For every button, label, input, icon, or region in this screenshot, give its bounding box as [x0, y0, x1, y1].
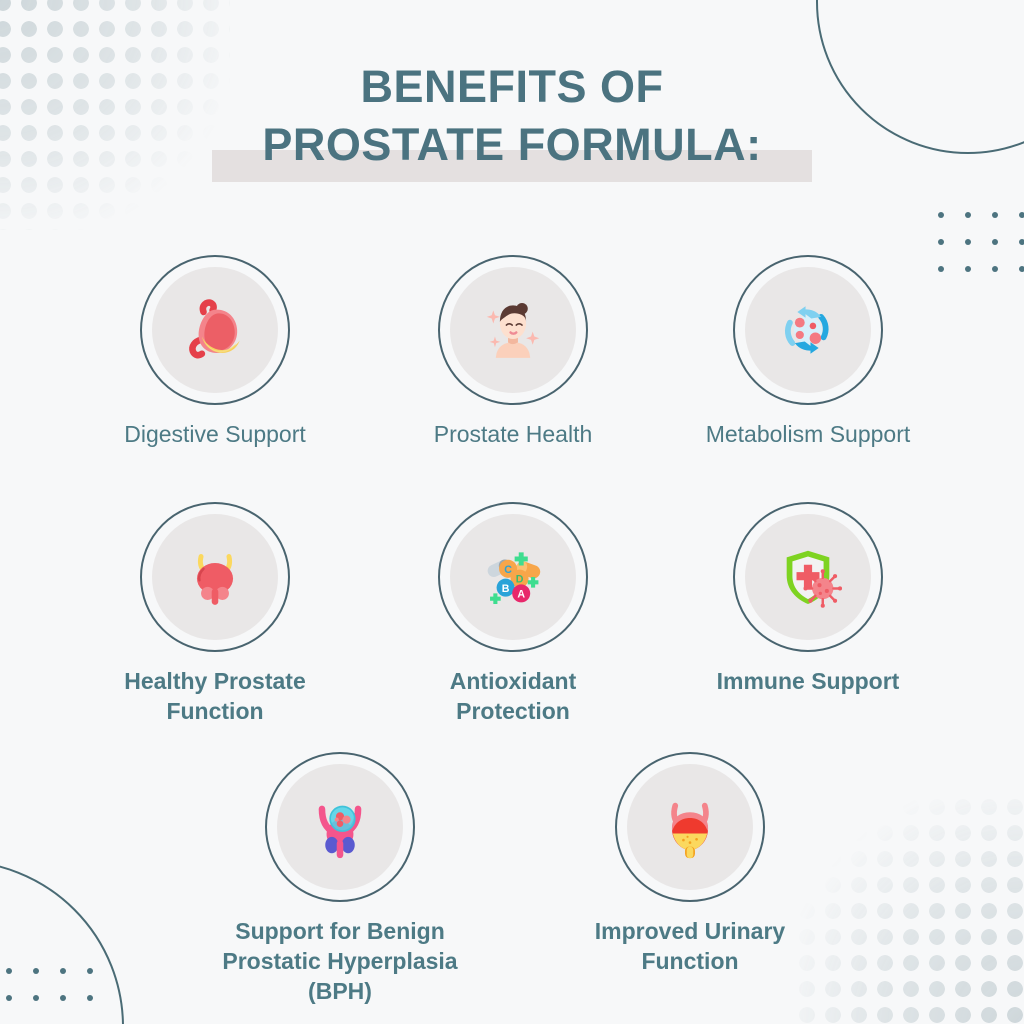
benefit-item-antioxidant-protection: C D B A Antioxidant Protection — [393, 502, 633, 726]
pill-letter-a: A — [517, 589, 525, 601]
pill-letter-d: D — [516, 574, 524, 586]
benefit-item-immune-support: Immune Support — [688, 502, 928, 696]
title-line-1: BENEFITS OF — [0, 58, 1024, 116]
icon-circle — [733, 502, 883, 652]
stomach-icon — [174, 289, 256, 371]
benefit-label: Support for Benign Prostatic Hyperplasia… — [190, 916, 490, 1006]
reproductive-organ-icon — [299, 786, 381, 868]
virus-glyph — [803, 569, 842, 608]
icon-circle-fill — [627, 764, 753, 890]
benefit-item-prostate-health: Prostate Health — [393, 255, 633, 449]
dot-grid-bottom-left — [6, 968, 93, 1001]
icon-circle — [615, 752, 765, 902]
icon-circle-fill — [152, 267, 278, 393]
halftone-pattern-bottom-right — [794, 794, 1024, 1024]
metabolism-icon — [767, 289, 849, 371]
icon-circle — [265, 752, 415, 902]
benefit-item-metabolism-support: Metabolism Support — [688, 255, 928, 449]
pill-letter-b: B — [502, 583, 510, 595]
icon-circle — [438, 255, 588, 405]
benefit-item-digestive-support: Digestive Support — [95, 255, 335, 449]
icon-circle-fill — [277, 764, 403, 890]
benefit-label: Healthy Prostate Function — [95, 666, 335, 726]
benefit-label: Digestive Support — [95, 419, 335, 449]
pill-letter-c: C — [504, 564, 512, 576]
bladder-prostate-icon — [174, 536, 256, 618]
benefit-label: Immune Support — [688, 666, 928, 696]
decorative-circle-bottom-left — [0, 860, 124, 1024]
page-title: BENEFITS OF PROSTATE FORMULA: — [0, 58, 1024, 174]
icon-circle — [140, 255, 290, 405]
infographic-poster: BENEFITS OF PROSTATE FORMULA: Digestive … — [0, 0, 1024, 1024]
bladder-urine-icon — [649, 786, 731, 868]
benefit-label: Antioxidant Protection — [393, 666, 633, 726]
benefit-label: Improved Urinary Function — [570, 916, 810, 976]
icon-circle-fill — [745, 514, 871, 640]
icon-circle — [733, 255, 883, 405]
title-line-2: PROSTATE FORMULA: — [0, 116, 1024, 174]
benefit-item-healthy-prostate-function: Healthy Prostate Function — [95, 502, 335, 726]
benefit-item-improved-urinary-function: Improved Urinary Function — [570, 752, 810, 976]
face-glow-icon — [472, 289, 554, 371]
shield-virus-icon — [767, 536, 849, 618]
icon-circle — [140, 502, 290, 652]
icon-circle-fill — [745, 267, 871, 393]
icon-circle-fill — [152, 514, 278, 640]
vitamins-icon: C D B A — [472, 536, 554, 618]
icon-circle-fill — [450, 267, 576, 393]
dot-grid-top-right — [938, 212, 1024, 272]
benefit-label: Metabolism Support — [688, 419, 928, 449]
benefit-label: Prostate Health — [393, 419, 633, 449]
icon-circle-fill: C D B A — [450, 514, 576, 640]
benefit-item-support-for-bph: Support for Benign Prostatic Hyperplasia… — [220, 752, 460, 1006]
icon-circle: C D B A — [438, 502, 588, 652]
